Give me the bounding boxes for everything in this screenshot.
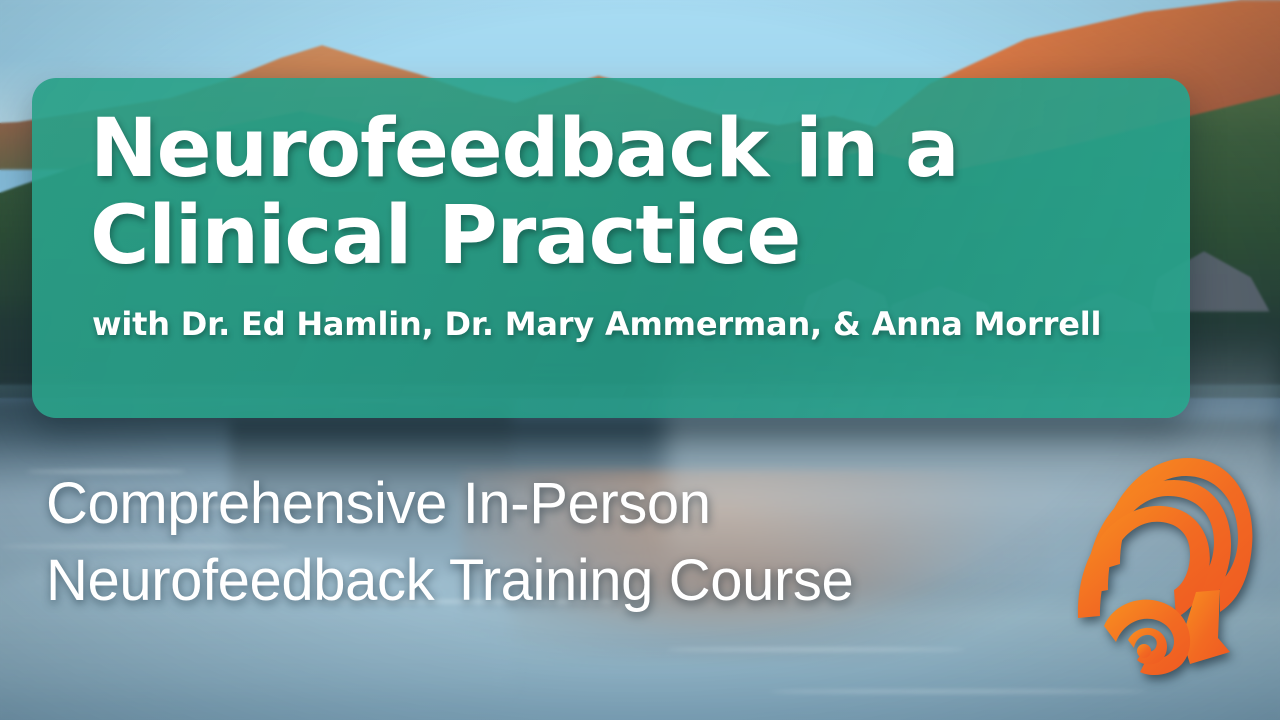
course-description-headline: Comprehensive In-Person Neurofeedback Tr…	[46, 466, 853, 619]
water-ripple	[666, 648, 966, 651]
brainwave-head-profile-logo	[1070, 442, 1270, 680]
logo-spiral-center	[1137, 644, 1151, 658]
course-title-line-2: Clinical Practice	[90, 193, 1150, 280]
title-card-slide: Neurofeedback in a Clinical Practice wit…	[0, 0, 1280, 720]
headline-line-1: Comprehensive In-Person	[46, 466, 853, 543]
course-title-line-1: Neurofeedback in a	[90, 106, 1150, 193]
presenters-subtitle: with Dr. Ed Hamlin, Dr. Mary Ammerman, &…	[92, 305, 1150, 343]
water-ripple	[768, 690, 1148, 693]
title-card-panel: Neurofeedback in a Clinical Practice wit…	[32, 78, 1190, 418]
headline-line-2: Neurofeedback Training Course	[46, 543, 853, 620]
title-card-content: Neurofeedback in a Clinical Practice wit…	[90, 106, 1150, 343]
